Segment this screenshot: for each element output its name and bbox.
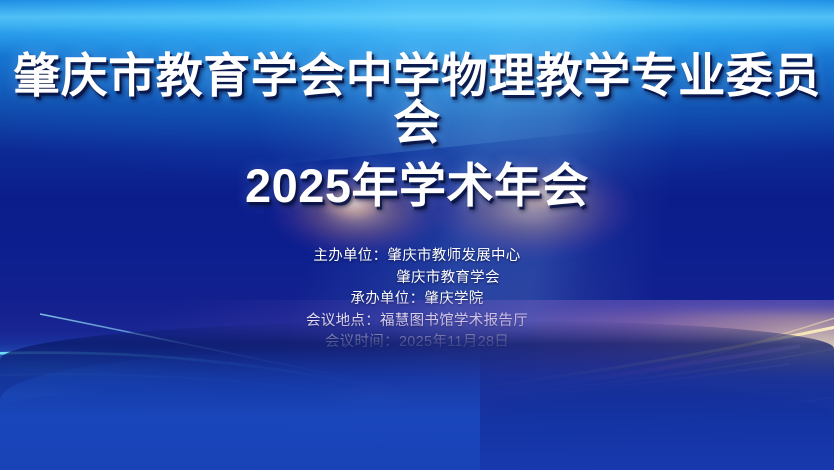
water-highlight — [0, 350, 480, 470]
page-title: 肇庆市教育学会中学物理教学专业委员会 2025年学术年会 — [0, 52, 834, 209]
detail-line-organizer-second: 肇庆市教育学会 — [0, 268, 834, 290]
conference-banner: 肇庆市教育学会中学物理教学专业委员会 2025年学术年会 主办单位：肇庆市教师发… — [0, 0, 834, 470]
light-ribbon-composition — [0, 300, 834, 470]
title-line-secondary: 2025年学术年会 — [0, 162, 834, 209]
title-line-primary: 肇庆市教育学会中学物理教学专业委员会 — [0, 52, 834, 146]
detail-line-organizer: 主办单位：肇庆市教师发展中心 — [0, 246, 834, 268]
